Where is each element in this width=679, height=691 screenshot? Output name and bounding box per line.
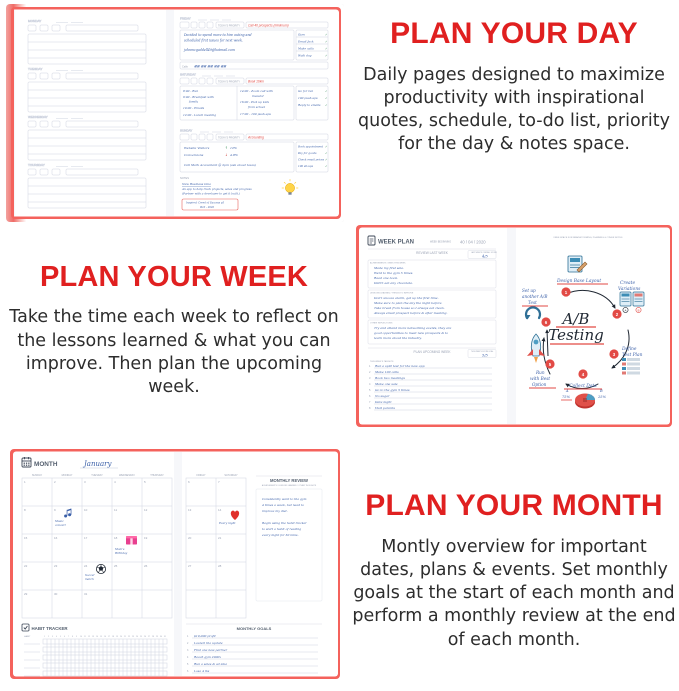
svg-text:Try and attend more networking: Try and attend more networking events, t…: [374, 326, 451, 330]
svg-text:Every night: Every night: [218, 521, 236, 525]
svg-text:19: 19: [144, 536, 148, 540]
svg-text:Call 40 prospects (minimum): Call 40 prospects (minimum): [248, 24, 289, 28]
svg-text:11: 11: [84, 636, 86, 638]
svg-text:↑: ↑: [225, 146, 228, 150]
svg-text:✓: ✓: [325, 33, 328, 37]
svg-text:Inspired: Creed of Success p5: Inspired: Creed of Success p5: [185, 202, 224, 205]
svg-text:Book appointment: Book appointment: [297, 145, 324, 149]
svg-text:4/5: 4/5: [481, 255, 488, 259]
svg-text:Run: Run: [535, 370, 545, 375]
svg-text:Decided to spend more to hire: Decided to spend more to hire outing and: [183, 33, 252, 37]
svg-text:January: January: [82, 460, 113, 468]
svg-text:18: 18: [114, 536, 118, 540]
svg-text:Find one new partner: Find one new partner: [193, 648, 228, 652]
svg-text:𝍸𝍸 𝍸𝍸 𝍸𝍸 𝍸𝍸 𝍸𝍸: 𝍸𝍸 𝍸𝍸 𝍸𝍸 𝍸𝍸 𝍸𝍸: [194, 65, 227, 69]
svg-text:22: 22: [24, 564, 28, 568]
svg-text:26: 26: [144, 564, 148, 568]
svg-text:✓: ✓: [325, 89, 328, 93]
svg-text:good opportunities to meet new: good opportunities to meet new prospects…: [374, 331, 448, 335]
svg-text:another A/B: another A/B: [522, 294, 547, 299]
svg-text:16:00 - Pick up kids: 16:00 - Pick up kids: [240, 100, 269, 104]
svg-text:No sugar: No sugar: [374, 394, 390, 398]
svg-text:15: 15: [24, 536, 28, 540]
svg-text:Make sure to plan the day the: Make sure to plan the day the night befo…: [373, 301, 442, 305]
svg-text:SATURDAY: SATURDAY: [224, 474, 238, 477]
svg-text:30: 30: [160, 636, 162, 638]
svg-text:✓: ✓: [325, 151, 328, 155]
svg-text:johnmcgoddell49@hotmail.com: johnmcgoddell49@hotmail.com: [183, 48, 235, 52]
svg-text:SATURDAY: SATURDAY: [180, 72, 196, 76]
panel-plan-your-month: PLAN YOUR MONTH Montly overview for impo…: [352, 490, 676, 652]
svg-text:SUNDAY: SUNDAY: [180, 128, 192, 132]
svg-text:from school: from school: [247, 105, 265, 109]
svg-text:B: B: [599, 389, 603, 393]
svg-text:#10 - 2020: #10 - 2020: [200, 206, 214, 209]
svg-text:Go for run: Go for run: [298, 89, 313, 93]
svg-text:6: 6: [64, 636, 65, 638]
pie-chart-icon: [575, 394, 595, 409]
svg-text:29: 29: [24, 592, 28, 596]
svg-text:9: 9: [76, 636, 77, 638]
svg-text:THIS WEEK'S TARGETS: THIS WEEK'S TARGETS: [370, 360, 394, 363]
svg-text:scheduled first issues for nex: scheduled first issues for next week.: [184, 39, 243, 43]
svg-text:5/5: 5/5: [482, 354, 488, 358]
svg-text:improve my diet.: improve my diet.: [262, 509, 288, 513]
planner-month-pages: MONTH January SUNDAYMONDAY TUESDAYWEDNES…: [4, 446, 344, 682]
svg-text:MONTHLY REVIEW: MONTHLY REVIEW: [270, 478, 308, 483]
svg-text:16: 16: [54, 536, 58, 540]
svg-text:24: 24: [136, 636, 138, 638]
svg-text:FRIDAY: FRIDAY: [180, 16, 191, 20]
svg-text:13: 13: [188, 508, 192, 512]
planner-photo-month: MONTH January SUNDAYMONDAY TUESDAYWEDNES…: [4, 446, 344, 682]
svg-text:4.8%: 4.8%: [229, 153, 238, 157]
svg-text:concert: concert: [55, 523, 67, 527]
svg-text:23: 23: [132, 636, 134, 638]
svg-text:Variations: Variations: [618, 287, 641, 292]
svg-text:✓: ✓: [325, 40, 328, 44]
svg-text:Don't snooze alarm, get up the: Don't snooze alarm, get up the first tim…: [373, 296, 439, 300]
svg-text:7: 7: [68, 636, 69, 638]
svg-text:WEDNESDAY: WEDNESDAY: [119, 474, 135, 477]
svg-text:27: 27: [188, 564, 192, 568]
svg-text:family: family: [188, 100, 198, 104]
svg-text:17: 17: [84, 536, 88, 540]
svg-text:match: match: [85, 577, 94, 581]
svg-text:OTHER REFLECTIONS: OTHER REFLECTIONS: [370, 323, 393, 325]
planner-week-pages: WEEK PLAN WEEK BEGINNING 40 / 04 / 2020 …: [352, 222, 676, 430]
svg-text:THURSDAY: THURSDAY: [28, 163, 45, 167]
svg-text:FRIDAY: FRIDAY: [197, 474, 206, 477]
svg-text:Always email prospect before &: Always email prospect before & after mee…: [373, 311, 447, 315]
svg-text:Take break from house so I alw: Take break from house so I always eat cl…: [374, 306, 445, 310]
headline-plan-your-week: PLAN YOUR WEEK: [4, 262, 344, 292]
svg-text:MONDAY: MONDAY: [62, 474, 73, 477]
svg-text:30: 30: [54, 592, 58, 596]
svg-text:Call Mark Accountant @ 2pm (as: Call Mark Accountant @ 2pm (ask about ta…: [184, 163, 257, 167]
svg-text:12: 12: [88, 636, 90, 638]
svg-text:Accounting: Accounting: [247, 136, 264, 140]
svg-text:Email Jack: Email Jack: [297, 40, 314, 44]
svg-text:15: 15: [100, 636, 102, 638]
svg-text:100 sit-ups: 100 sit-ups: [298, 164, 314, 168]
svg-text:TODAY'S PRIORITY: TODAY'S PRIORITY: [218, 25, 240, 28]
svg-text:31: 31: [164, 636, 166, 638]
svg-text:Calls: Calls: [182, 65, 188, 69]
svg-text:Didn't eat any chocolate.: Didn't eat any chocolate.: [373, 281, 413, 285]
svg-text:75%: 75%: [562, 395, 571, 399]
headline-plan-your-month: PLAN YOUR MONTH: [352, 490, 676, 522]
svg-text:NOTES: NOTES: [180, 176, 189, 180]
svg-text:14: 14: [96, 636, 98, 638]
svg-text:22: 22: [128, 636, 130, 638]
svg-text:Consistently went to the gym: Consistently went to the gym: [262, 497, 307, 501]
svg-text:Pay for goods: Pay for goods: [297, 151, 317, 155]
body-plan-your-week: Take the time each week to reflect on th…: [4, 306, 344, 399]
svg-text:Read one book.: Read one book.: [373, 276, 398, 280]
svg-text:Check email prices: Check email prices: [298, 158, 325, 162]
svg-text:26: 26: [144, 636, 146, 638]
svg-text:17: 17: [108, 636, 110, 638]
svg-text:Testing: Testing: [548, 326, 604, 344]
body-plan-your-day: Daily pages designed to maximize product…: [352, 64, 676, 157]
svg-text:HABIT: HABIT: [24, 635, 31, 638]
svg-text:TUESDAY: TUESDAY: [91, 474, 103, 477]
svg-text:✓: ✓: [325, 164, 328, 168]
svg-text:MONTHLY GOALS: MONTHLY GOALS: [237, 626, 272, 631]
svg-text:Birthday: Birthday: [114, 551, 128, 555]
svg-text:12:00 - Lunch meeting: 12:00 - Lunch meeting: [183, 113, 216, 117]
svg-text:New Business Idea: New Business Idea: [181, 182, 211, 186]
svg-text:ACHIEVEMENTS / WINS THIS WEEK: ACHIEVEMENTS / WINS THIS WEEK: [370, 262, 406, 265]
svg-text:SUNDAY: SUNDAY: [32, 474, 43, 477]
svg-text:12: 12: [144, 508, 148, 512]
svg-text:MONTH: MONTH: [34, 461, 58, 468]
svg-text:A: A: [565, 389, 569, 393]
svg-text:FREE SPACE FOR BRAINSTORMING,: FREE SPACE FOR BRAINSTORMING, PLANNING &…: [554, 236, 623, 239]
svg-text:An app to help track projects,: An app to help track projects, sales and…: [181, 187, 252, 191]
svg-text:Made my first sale.: Made my first sale.: [373, 266, 404, 270]
svg-text:Launch the update: Launch the update: [193, 641, 223, 645]
svg-text:HABIT TRACKER: HABIT TRACKER: [32, 626, 69, 631]
svg-text:8:00 - Run: 8:00 - Run: [183, 89, 198, 93]
svg-text:WEEK BEGINNING: WEEK BEGINNING: [430, 241, 451, 244]
svg-text:25%: 25%: [597, 395, 607, 399]
svg-text:TODAY'S PRIORITY: TODAY'S PRIORITY: [218, 137, 240, 140]
svg-text:Went to the gym 5 times.: Went to the gym 5 times.: [374, 271, 413, 275]
svg-text:✓: ✓: [325, 145, 328, 149]
svg-text:16: 16: [104, 636, 106, 638]
svg-text:Create: Create: [620, 281, 635, 286]
svg-text:Begin using the habit tracker: Begin using the habit tracker: [261, 521, 307, 525]
svg-text:18: 18: [112, 636, 114, 638]
svg-text:Define: Define: [621, 347, 637, 352]
svg-text:27: 27: [148, 636, 150, 638]
svg-text:Set up: Set up: [522, 288, 536, 293]
svg-text:21: 21: [218, 536, 222, 540]
svg-text:✓: ✓: [325, 54, 328, 58]
svg-text:TUESDAY: TUESDAY: [28, 67, 42, 71]
svg-text:to start a habit of reading: to start a habit of reading: [262, 527, 301, 531]
svg-text:✓: ✓: [325, 158, 328, 162]
feature-grid-sheet: MONDAY TUESDAY: [0, 0, 679, 691]
svg-text:Conversions: Conversions: [184, 153, 204, 157]
svg-text:Run a sales & ad idea: Run a sales & ad idea: [193, 662, 227, 666]
svg-text:2: 2: [48, 636, 49, 638]
svg-text:29: 29: [156, 636, 158, 638]
svg-text:14: 14: [218, 508, 222, 512]
svg-text:Run a split test for the new a: Run a split test for the new app: [374, 364, 425, 368]
svg-text:Make calls: Make calls: [297, 47, 314, 51]
svg-text:PLAN UPCOMING WEEK: PLAN UPCOMING WEEK: [413, 350, 451, 354]
svg-text:B: B: [637, 308, 639, 312]
svg-text:12%: 12%: [230, 146, 237, 150]
svg-text:Make 100 calls: Make 100 calls: [374, 370, 399, 374]
svg-text:every night for 30 mins.: every night for 30 mins.: [262, 533, 299, 537]
svg-text:✓: ✓: [325, 96, 328, 100]
svg-text:5: 5: [60, 636, 61, 638]
svg-text:19: 19: [116, 636, 118, 638]
svg-text:WEEK PLAN: WEEK PLAN: [378, 240, 414, 246]
svg-text:Reply to emails: Reply to emails: [297, 103, 321, 107]
svg-text:11: 11: [114, 508, 117, 512]
svg-text:Book 10km: Book 10km: [248, 80, 264, 84]
panel-plan-your-day: PLAN YOUR DAY Daily pages designed to ma…: [352, 18, 676, 157]
svg-text:Date night: Date night: [374, 400, 392, 404]
soccer-ball-icon: [96, 564, 105, 573]
svg-text:THURSDAY: THURSDAY: [150, 474, 164, 477]
svg-text:Test Plan: Test Plan: [622, 353, 643, 358]
svg-text:10: 10: [80, 636, 82, 638]
svg-text:LESSONS LEARNED / THINGS TO IM: LESSONS LEARNED / THINGS TO IMPROVE: [370, 292, 414, 295]
panel-plan-your-week: PLAN YOUR WEEK Take the time each week t…: [4, 262, 344, 400]
svg-text:TODAY'S PRIORITY: TODAY'S PRIORITY: [218, 81, 240, 84]
svg-text:ACHIEVEMENTS / LESSONS LEARNED: ACHIEVEMENTS / LESSONS LEARNED / OTHER T…: [262, 484, 317, 487]
svg-text:4 times a week, but need to: 4 times a week, but need to: [261, 503, 304, 507]
svg-text:Gym: Gym: [298, 33, 305, 37]
day-label: MONDAY: [28, 19, 41, 23]
svg-text:WEDNESDAY: WEDNESDAY: [28, 115, 48, 119]
svg-text:20: 20: [120, 636, 122, 638]
svg-text:20: 20: [188, 536, 192, 540]
svg-text:13: 13: [92, 636, 94, 638]
svg-text:Collect Data: Collect Data: [569, 384, 597, 389]
headline-plan-your-day: PLAN YOUR DAY: [352, 18, 676, 50]
svg-text:100 push-ups: 100 push-ups: [298, 96, 318, 100]
svg-text:Website Visitors: Website Visitors: [184, 146, 210, 150]
svg-text:3: 3: [52, 636, 53, 638]
svg-text:REVIEW LAST WEEK: REVIEW LAST WEEK: [416, 251, 449, 255]
svg-text:17:00 - 100 push-ups: 17:00 - 100 push-ups: [240, 112, 271, 116]
svg-text:21: 21: [124, 636, 126, 638]
svg-text:Book two meetings: Book two meetings: [374, 376, 405, 380]
svg-text:Option: Option: [532, 382, 547, 387]
svg-text:Go to the gym 5 times: Go to the gym 5 times: [375, 388, 410, 392]
svg-text:28: 28: [152, 636, 154, 638]
svg-text:Lose 4 lbs: Lose 4 lbs: [193, 669, 210, 673]
svg-text:Visit parents: Visit parents: [375, 406, 395, 410]
svg-text:31: 31: [84, 592, 88, 596]
svg-text:25: 25: [114, 564, 118, 568]
svg-text:with Best: with Best: [530, 376, 550, 381]
svg-text:25: 25: [140, 636, 142, 638]
svg-text:✓: ✓: [325, 103, 328, 107]
svg-text:Reach gym 2000x: Reach gym 2000x: [193, 655, 221, 659]
svg-text:Walk dog: Walk dog: [298, 54, 312, 58]
planner-photo-week: WEEK PLAN WEEK BEGINNING 40 / 04 / 2020 …: [352, 222, 676, 430]
svg-text:9:00 - Breakfast with: 9:00 - Breakfast with: [183, 95, 214, 99]
svg-text:Design Base Layout: Design Base Layout: [556, 279, 601, 284]
svg-text:$10,000 profit: $10,000 profit: [194, 634, 217, 638]
planner-photo-daily: MONDAY TUESDAY: [6, 4, 344, 222]
svg-text:40 / 04 / 2020: 40 / 04 / 2020: [460, 240, 486, 245]
svg-text:24: 24: [84, 564, 88, 568]
body-plan-your-month: Montly overview for important dates, pla…: [352, 536, 676, 652]
svg-text:10: 10: [84, 508, 88, 512]
svg-text:✓: ✓: [325, 47, 328, 51]
svg-text:Make one sale: Make one sale: [374, 382, 398, 386]
svg-text:8: 8: [72, 636, 73, 638]
svg-text:investor: investor: [252, 94, 265, 98]
svg-text:learn more about the industry.: learn more about the industry.: [374, 336, 422, 340]
svg-text:28: 28: [218, 564, 222, 568]
svg-text:1: 1: [44, 636, 45, 638]
planner-daily-pages: MONDAY TUESDAY: [6, 4, 344, 222]
svg-text:23: 23: [54, 564, 58, 568]
svg-text:10:00 - Emails: 10:00 - Emails: [183, 106, 205, 110]
svg-text:14:00 - Zoom call with: 14:00 - Zoom call with: [240, 89, 273, 93]
svg-text:Test: Test: [528, 300, 537, 305]
svg-text:(Partner with a developer to g: (Partner with a developer to get it buil…: [182, 192, 240, 196]
svg-text:↓: ↓: [225, 153, 228, 157]
gift-icon: [126, 536, 137, 545]
svg-text:4: 4: [56, 636, 57, 638]
